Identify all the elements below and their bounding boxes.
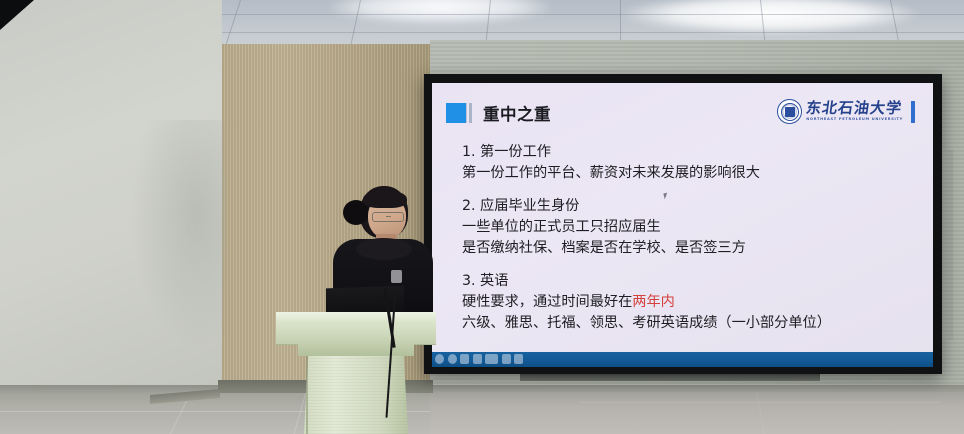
title-accent-edge	[469, 103, 472, 123]
university-name-cn: 东北石油大学	[805, 101, 904, 116]
slide-text-line: 硬性要求，通过时间最好在两年内	[462, 292, 913, 313]
slide-text-highlight: 两年内	[632, 294, 675, 310]
title-accent-square	[446, 103, 466, 123]
university-seal-icon	[777, 99, 802, 124]
slide-text-run: 六级、雅思、托福、领思、考研英语成绩（一小部分单位）	[462, 315, 831, 331]
lectern-body	[304, 356, 408, 434]
slide-section-heading: 1. 第一份工作	[462, 142, 913, 163]
ceiling-light-panel-2	[330, 0, 550, 24]
slide-title-row: 重中之重	[446, 101, 551, 125]
pen-icon[interactable]	[460, 354, 469, 364]
slide-text-line: 是否缴纳社保、档案是否在学校、是否签三方	[462, 238, 913, 259]
presenter-toolbar[interactable]	[432, 352, 933, 367]
lectern-top	[276, 312, 436, 344]
slide-text-run: 一些单位的正式员工只招应届生	[462, 219, 661, 235]
university-logo-text: 东北石油大学 NORTHEAST PETROLEUM UNIVERSITY	[806, 101, 903, 121]
university-logo: 东北石油大学 NORTHEAST PETROLEUM UNIVERSITY	[777, 99, 915, 124]
presentation-room-photo: 重中之重 东北石油大学 NORTHEAST PETROLEUM UNIVERSI…	[0, 0, 964, 434]
presenter-hood	[356, 238, 412, 260]
lectern	[276, 312, 436, 434]
slide-text-run: 是否缴纳社保、档案是否在学校、是否签三方	[462, 240, 746, 256]
menu-icon[interactable]	[502, 354, 511, 364]
lectern-neck	[298, 344, 414, 356]
wall-display[interactable]: 重中之重 东北石油大学 NORTHEAST PETROLEUM UNIVERSI…	[424, 74, 942, 374]
display-bezel-inner: 重中之重 东北石油大学 NORTHEAST PETROLEUM UNIVERSI…	[432, 83, 933, 367]
circle-icon[interactable]	[435, 354, 444, 364]
presenter-hair-front	[363, 190, 407, 208]
slide-icon[interactable]	[485, 354, 498, 364]
glasses-icon	[372, 212, 404, 222]
slide-text-line: 第一份工作的平台、薪资对未来发展的影响很大	[462, 163, 913, 184]
slide-section-heading: 3. 英语	[462, 271, 913, 292]
pointer-icon[interactable]	[473, 354, 482, 364]
wall-shadow	[130, 120, 225, 350]
slide-text-line: 六级、雅思、托福、领思、考研英语成绩（一小部分单位）	[462, 313, 913, 334]
slide-title: 重中之重	[483, 101, 551, 125]
slide-text-run: 硬性要求，通过时间最好在	[462, 294, 632, 310]
hoodie-graphic	[391, 270, 402, 283]
powerpoint-slide[interactable]: 重中之重 东北石油大学 NORTHEAST PETROLEUM UNIVERSI…	[432, 83, 933, 367]
slide-line-gap	[462, 184, 913, 196]
more-icon[interactable]	[514, 354, 523, 364]
ceiling-light-panel	[620, 0, 920, 34]
logo-accent-bar	[911, 101, 915, 123]
presenter-toolbar-icons[interactable]	[435, 354, 523, 364]
display-mount	[520, 374, 820, 381]
slide-text-line: 一些单位的正式员工只招应届生	[462, 217, 913, 238]
university-name-en: NORTHEAST PETROLEUM UNIVERSITY	[806, 118, 903, 122]
slide-section-heading: 2. 应届毕业生身份	[462, 196, 913, 217]
slide-text-run: 第一份工作的平台、薪资对未来发展的影响很大	[462, 165, 760, 181]
lectern-edge	[306, 356, 308, 434]
floor-right	[430, 392, 964, 434]
slide-body: 1. 第一份工作第一份工作的平台、薪资对未来发展的影响很大2. 应届毕业生身份一…	[462, 142, 913, 334]
slide-line-gap	[462, 259, 913, 271]
left-wall	[0, 0, 222, 400]
circle-icon-2[interactable]	[448, 354, 457, 364]
